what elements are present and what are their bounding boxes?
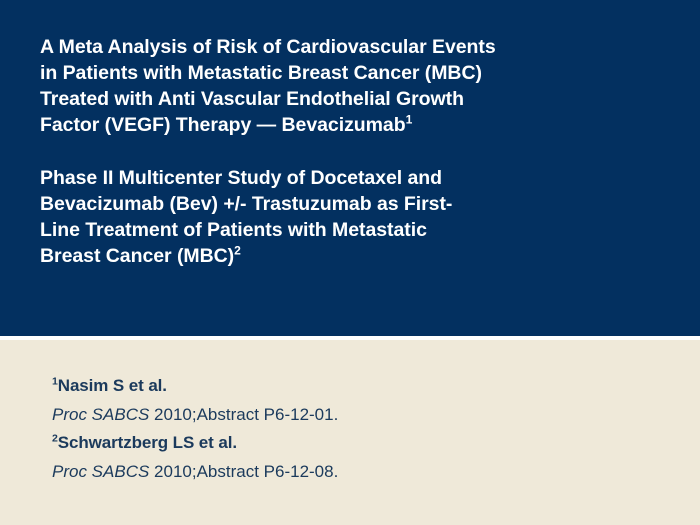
citation-journal-2: Proc SABCS xyxy=(52,462,149,481)
title-line-1: A Meta Analysis of Risk of Cardiovascula… xyxy=(40,34,670,60)
citation-source-2: Proc SABCS 2010;Abstract P6-12-08. xyxy=(52,458,652,487)
title2-line-2: Bevacizumab (Bev) +/- Trastuzumab as Fir… xyxy=(40,191,670,217)
citation-author-2: 2Schwartzberg LS et al. xyxy=(52,429,652,458)
citation-author-1-text: Nasim S et al. xyxy=(58,376,167,395)
title2-line-4-text: Breast Cancer (MBC) xyxy=(40,245,234,267)
title2-line-3: Line Treatment of Patients with Metastat… xyxy=(40,217,670,243)
title-block-phase-ii: Phase II Multicenter Study of Docetaxel … xyxy=(40,165,670,269)
title2-line-4: Breast Cancer (MBC)2 xyxy=(40,243,670,269)
citation-detail-2: 2010;Abstract P6-12-08. xyxy=(149,462,338,481)
title-line-4-text: Factor (VEGF) Therapy — Bevacizumab xyxy=(40,114,406,136)
title-panel: A Meta Analysis of Risk of Cardiovascula… xyxy=(0,0,700,336)
slide-root: A Meta Analysis of Risk of Cardiovascula… xyxy=(0,0,700,525)
title-superscript-2: 2 xyxy=(234,244,241,258)
citation-source-1: Proc SABCS 2010;Abstract P6-12-01. xyxy=(52,401,652,430)
citation-list: 1Nasim S et al. Proc SABCS 2010;Abstract… xyxy=(52,372,652,486)
citation-detail-1: 2010;Abstract P6-12-01. xyxy=(149,405,338,424)
citation-author-2-text: Schwartzberg LS et al. xyxy=(58,433,237,452)
title-block-meta-analysis: A Meta Analysis of Risk of Cardiovascula… xyxy=(40,34,670,138)
citation-panel: 1Nasim S et al. Proc SABCS 2010;Abstract… xyxy=(0,340,700,525)
citation-journal-1: Proc SABCS xyxy=(52,405,149,424)
title-line-2: in Patients with Metastatic Breast Cance… xyxy=(40,60,670,86)
citation-author-1: 1Nasim S et al. xyxy=(52,372,652,401)
title-line-4: Factor (VEGF) Therapy — Bevacizumab1 xyxy=(40,112,670,138)
title2-line-1: Phase II Multicenter Study of Docetaxel … xyxy=(40,165,670,191)
title-superscript-1: 1 xyxy=(406,113,413,127)
title-line-3: Treated with Anti Vascular Endothelial G… xyxy=(40,86,670,112)
